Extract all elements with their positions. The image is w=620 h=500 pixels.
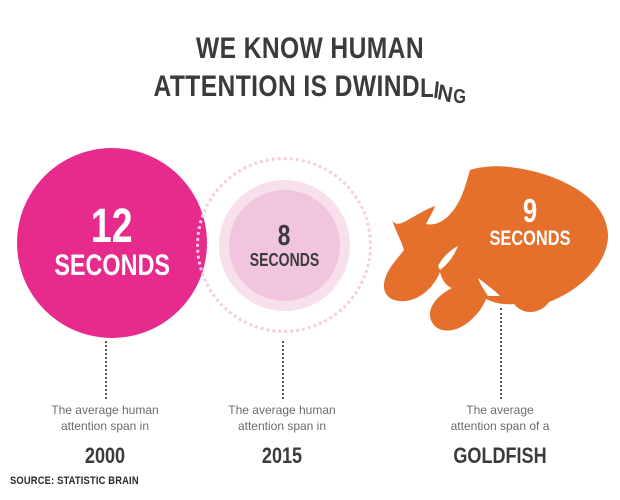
caption-goldfish-line1: The average — [420, 402, 580, 418]
caption-2000-line1: The average human — [25, 402, 185, 418]
goldfish-illustration: 9 SECONDS — [382, 162, 610, 334]
stat-value-2015: 8 — [278, 222, 291, 250]
caption-2000-key: 2000 — [39, 444, 170, 468]
caption-2000: The average human attention span in 2000 — [25, 402, 185, 468]
stat-label-goldfish: 9 SECONDS — [470, 194, 590, 250]
caption-2000-line2: attention span in — [25, 418, 185, 434]
caption-2015-line1: The average human — [202, 402, 362, 418]
stat-circle-2015-outer-ring: 8 SECONDS — [219, 180, 350, 311]
stat-circle-2000: 12 SECONDS — [17, 148, 207, 338]
connector-line-2000 — [105, 341, 107, 399]
page-title: WE KNOW HUMAN ATTENTION IS DWINDLING — [0, 30, 620, 109]
stat-unit-2015: SECONDS — [250, 250, 319, 270]
title-line-2: ATTENTION IS DWINDLING — [56, 68, 564, 109]
stat-value-2000: 12 — [91, 204, 133, 250]
title-line-1: WE KNOW HUMAN — [56, 30, 564, 68]
connector-line-goldfish — [500, 308, 502, 399]
stat-value-goldfish: 9 — [483, 194, 577, 227]
caption-goldfish-line2: attention span of a — [420, 418, 580, 434]
title-dwindle-letter-g: G — [452, 78, 467, 117]
stat-unit-2000: SECONDS — [54, 250, 170, 282]
caption-2015-line2: attention span in — [202, 418, 362, 434]
caption-goldfish-key: GOLDFISH — [434, 444, 565, 468]
caption-2015: The average human attention span in 2015 — [202, 402, 362, 468]
source-label: SOURCE: STATISTIC BRAIN — [10, 475, 139, 487]
stat-circle-2015: 8 SECONDS — [229, 190, 340, 301]
caption-2015-key: 2015 — [216, 444, 347, 468]
infographic-canvas: WE KNOW HUMAN ATTENTION IS DWINDLING 12 … — [0, 0, 620, 500]
title-line-2-main: ATTENTION IS DWIND — [153, 70, 420, 103]
connector-line-2015 — [282, 341, 284, 399]
stat-unit-goldfish: SECONDS — [483, 227, 577, 250]
caption-goldfish: The average attention span of a GOLDFISH — [420, 402, 580, 468]
